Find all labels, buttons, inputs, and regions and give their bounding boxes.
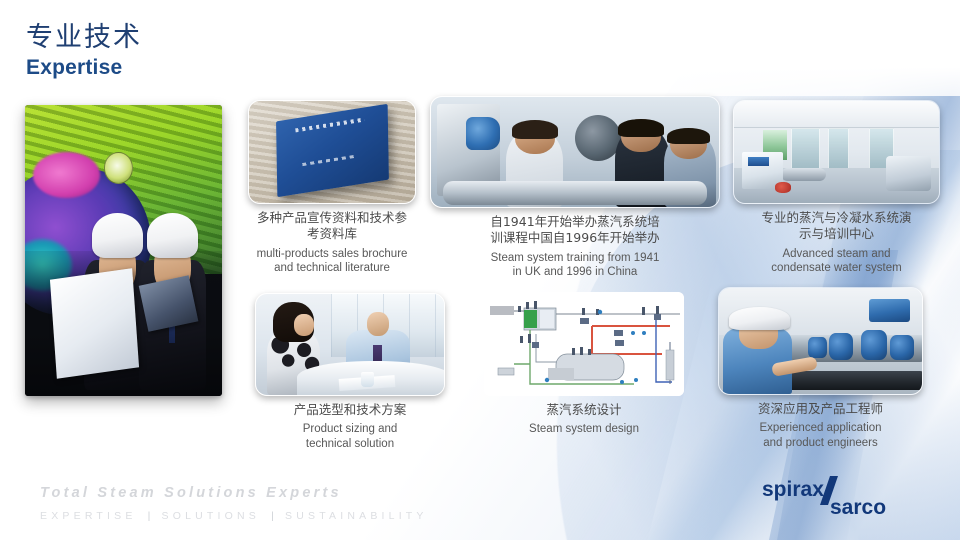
demo-centre-ceiling [734,101,939,128]
caption-system-design-english: Steam system design [484,422,684,437]
hero-person-right-hardhat [147,213,198,258]
caption-brochure-english: multi-products sales brochure and techni… [248,247,416,277]
page-title-english: Expertise [26,56,142,79]
caption-engineers-chinese: 资深应用及产品工程师 [718,401,923,417]
engineer-hardhat [729,307,790,330]
card-training: 自1941年开始举办蒸汽系统培 训课程中国自1996年开始举办 Steam sy… [430,96,720,280]
footer-separator-1: | [144,510,155,522]
training-person-1-hair [512,120,558,139]
engineer-valve-2 [861,330,887,360]
thumbnail-product-sizing [255,293,445,396]
meeting-client-face [294,314,315,336]
schematic-art [484,292,684,396]
training-person-3-hair [667,128,710,145]
demo-centre-test-stand [886,156,931,191]
thumbnail-brochure [248,100,416,204]
hero-gauge-icon [104,152,134,184]
footer-tagline: Total Steam Solutions Experts [40,485,428,501]
demo-centre-red-valve [775,182,791,193]
demo-centre-tank [781,168,826,180]
caption-engineers: 资深应用及产品工程师 Experienced application and p… [718,401,923,451]
meeting-water-glass [361,372,374,387]
training-person-2-hair [618,119,664,137]
card-system-design: 蒸汽系统设计 Steam system design [484,292,684,437]
caption-product-sizing-english: Product sizing and technical solution [255,422,445,452]
caption-brochure: 多种产品宣传资料和技术参 考资料库 multi-products sales b… [248,210,416,276]
engineer-valve-3 [890,335,914,360]
engineer-art [719,288,922,394]
caption-brochure-chinese: 多种产品宣传资料和技术参 考资料库 [248,210,416,243]
caption-product-sizing: 产品选型和技术方案 Product sizing and technical s… [255,402,445,452]
caption-demo-centre-chinese: 专业的蒸汽与冷凝水系统演 示与培训中心 [733,210,940,243]
caption-system-design: 蒸汽系统设计 Steam system design [484,402,684,437]
thumbnail-engineers [718,287,923,395]
hero-clipboard [139,275,199,331]
page-title-chinese: 专业技术 [26,22,142,53]
demo-centre-rack-2 [828,128,849,171]
caption-training-english: Steam system training from 1941 in UK an… [430,251,720,281]
meeting-consultant-head [367,312,390,336]
caption-training-chinese: 自1941年开始举办蒸汽系统培 训课程中国自1996年开始举办 [430,214,720,247]
footer-pillar-sustainability: SUSTAINABILITY [285,510,428,522]
demo-centre-control-panel [748,157,769,166]
brochure-art [249,101,415,203]
footer-separator-2: | [267,510,278,522]
logo-mark: spirax sarco [758,472,938,524]
hero-photo-art [25,105,222,396]
training-art [431,97,719,207]
engineer-dark-pipe [780,371,923,390]
steam-system-schematic-icon [484,292,684,396]
footer-pillar-solutions: SOLUTIONS [162,510,260,522]
engineer-valve-1 [829,333,853,361]
card-engineers: 资深应用及产品工程师 Experienced application and p… [718,287,923,451]
engineer-valve-4 [808,337,826,358]
training-steam-drum [575,115,621,161]
card-product-sizing: 产品选型和技术方案 Product sizing and technical s… [255,293,445,452]
demo-centre-rack-1 [791,128,820,171]
slide-footer: Total Steam Solutions Experts EXPERTISE … [40,485,428,522]
footer-pillar-expertise: EXPERTISE [40,510,137,522]
thumbnail-system-design [484,292,684,396]
logo-word-spirax: spirax [762,478,824,501]
training-blue-actuator [466,117,501,150]
thumbnail-demo-centre [733,100,940,204]
logo-word-sarco: sarco [830,496,886,519]
thumbnail-training [430,96,720,208]
engineer-blue-actuator-box [869,299,910,322]
meeting-art [256,294,444,395]
hero-blueprint [50,268,139,378]
background-top-fade [0,0,960,96]
slide-header: 专业技术 Expertise [26,22,142,79]
caption-training: 自1941年开始举办蒸汽系统培 训课程中国自1996年开始举办 Steam sy… [430,214,720,280]
caption-demo-centre: 专业的蒸汽与冷凝水系统演 示与培训中心 Advanced steam and c… [733,210,940,276]
card-demo-centre: 专业的蒸汽与冷凝水系统演 示与培训中心 Advanced steam and c… [733,100,940,276]
hero-person-left-hardhat [92,213,143,258]
spirax-sarco-logo: spirax sarco [758,472,938,524]
caption-system-design-chinese: 蒸汽系统设计 [484,402,684,418]
caption-demo-centre-english: Advanced steam and condensate water syst… [733,247,940,277]
card-brochure: 多种产品宣传资料和技术参 考资料库 multi-products sales b… [248,100,416,276]
training-foreground-pipe [443,181,708,205]
hero-photo-engineers [25,105,222,396]
caption-engineers-english: Experienced application and product engi… [718,421,923,451]
demo-centre-art [734,101,939,203]
caption-product-sizing-chinese: 产品选型和技术方案 [255,402,445,418]
hero-pink-highlight [33,152,100,199]
footer-pillars: EXPERTISE | SOLUTIONS | SUSTAINABILITY [40,510,428,522]
